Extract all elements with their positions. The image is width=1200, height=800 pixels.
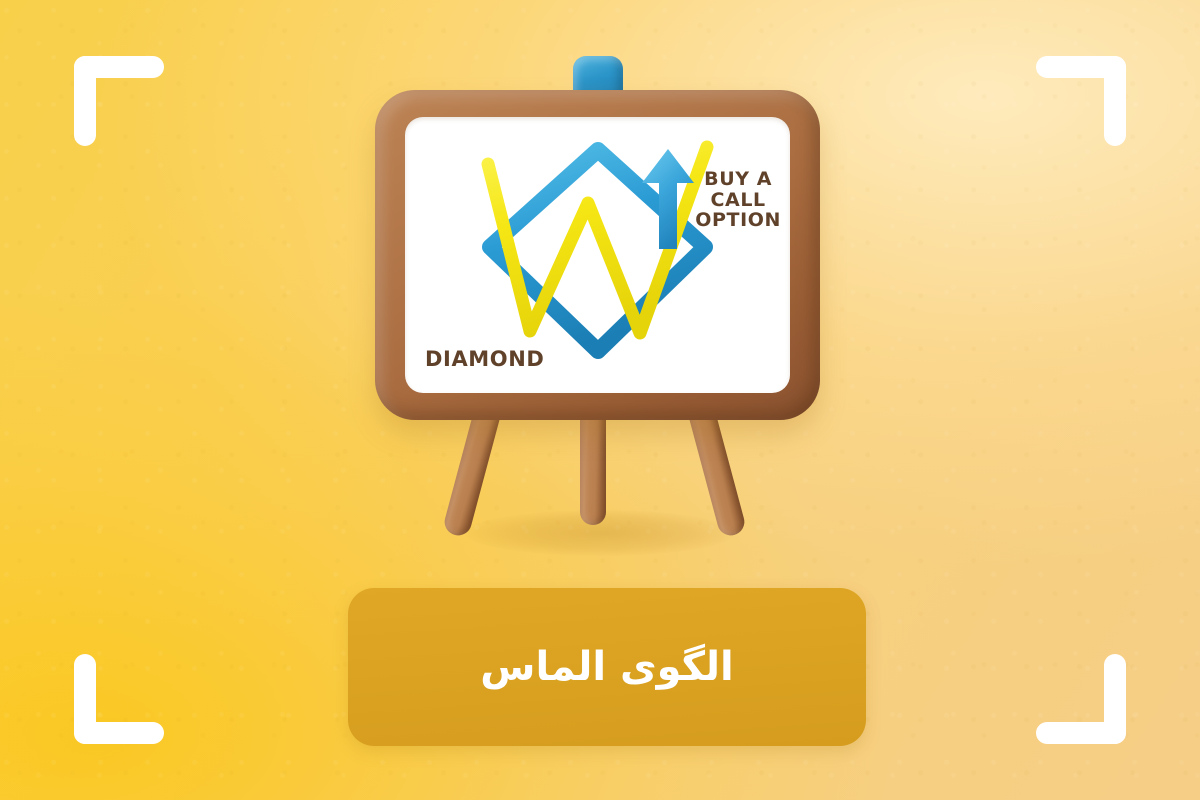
page-background: BUY A CALL OPTION DIAMOND الگوی الماس [0, 0, 1200, 800]
bracket-arm-vertical [1104, 654, 1126, 744]
bracket-arm-vertical [74, 654, 96, 744]
corner-bracket-top-left [74, 56, 164, 146]
easel-board-frame: BUY A CALL OPTION DIAMOND [375, 90, 820, 420]
easel-board-canvas: BUY A CALL OPTION DIAMOND [405, 117, 790, 393]
easel-illustration: BUY A CALL OPTION DIAMOND [370, 50, 820, 550]
corner-bracket-bottom-right [1036, 654, 1126, 744]
corner-bracket-bottom-left [74, 654, 164, 744]
bracket-arm-vertical [74, 56, 96, 146]
corner-bracket-top-right [1036, 56, 1126, 146]
bracket-arm-vertical [1104, 56, 1126, 146]
board-label-diamond: DIAMOND [425, 348, 544, 371]
board-annotation-buy-call: BUY A CALL OPTION [695, 169, 781, 231]
caption-button[interactable]: الگوی الماس [348, 588, 866, 746]
